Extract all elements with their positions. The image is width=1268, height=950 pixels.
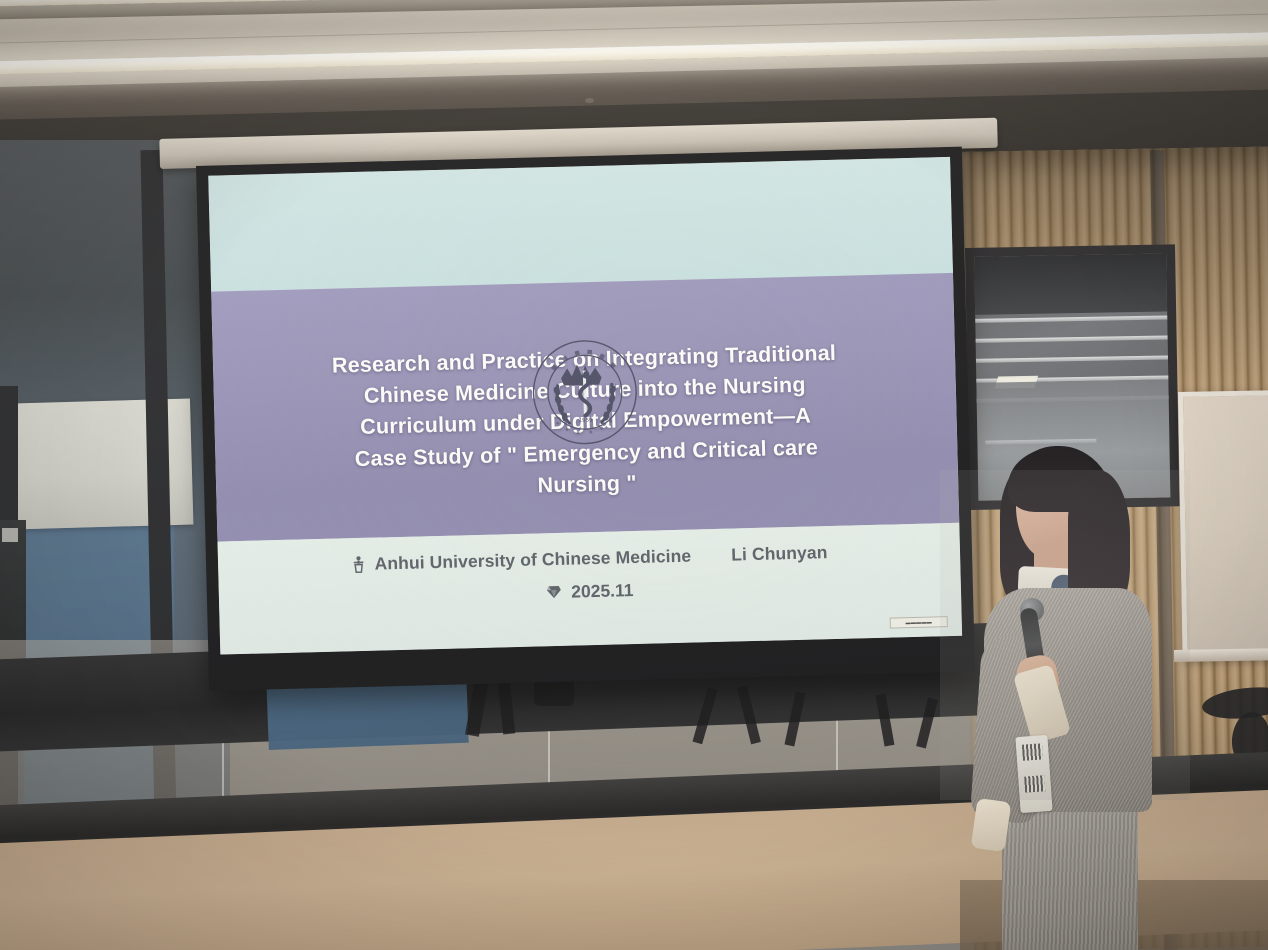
badge-qr-code <box>1024 775 1045 792</box>
projection-screen: Research and Practice on Integrating Tra… <box>196 147 975 691</box>
spacer <box>700 555 722 556</box>
presenter <box>956 440 1166 950</box>
presentation-slide: Research and Practice on Integrating Tra… <box>208 157 962 655</box>
slide-affiliation: Anhui University of Chinese Medicine <box>374 546 691 575</box>
slide-top-band <box>208 157 953 292</box>
university-logo-icon: 1959 <box>530 337 641 448</box>
window-header <box>974 253 1167 314</box>
screen-inventory-sticker: ▬▬▬▬▬ <box>890 616 948 628</box>
logo-year: 1959 <box>579 418 593 424</box>
blind-slat <box>968 335 1175 343</box>
photo-scene: Research and Practice on Integrating Tra… <box>0 0 1268 950</box>
lanyard-badge <box>1015 735 1052 813</box>
podium-icon <box>350 556 365 573</box>
screen-surface: Research and Practice on Integrating Tra… <box>208 157 962 655</box>
slide-affiliation-row: Anhui University of Chinese Medicine Li … <box>218 539 960 579</box>
badge-qr-code <box>1022 743 1043 760</box>
slide-footer-band: Anhui University of Chinese Medicine Li … <box>218 523 963 655</box>
sleeve-cuff <box>971 798 1012 852</box>
cabinet-label <box>2 528 18 542</box>
blind-slat <box>968 315 1175 323</box>
diamond-icon <box>546 584 562 600</box>
blind-slat <box>968 355 1175 363</box>
whiteboard-tray <box>1174 648 1268 662</box>
whiteboard <box>1178 390 1268 660</box>
slide-presenter-name: Li Chunyan <box>731 542 828 565</box>
slide-date-row: 2025.11 <box>219 572 961 612</box>
slide-date: 2025.11 <box>571 580 634 603</box>
screen-frame: Research and Practice on Integrating Tra… <box>196 147 975 691</box>
